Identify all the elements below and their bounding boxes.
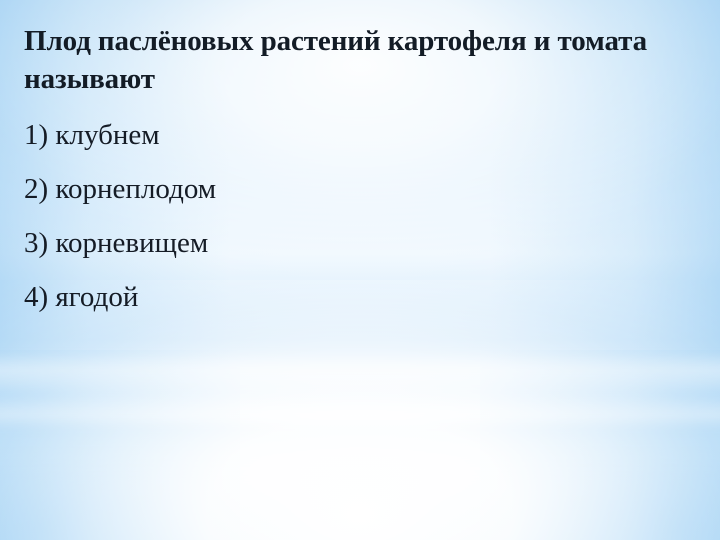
- answer-option-4-label: ягодой: [55, 281, 138, 313]
- answer-option-1-marker: 1): [24, 119, 48, 151]
- answer-option-3-marker: 3): [24, 227, 48, 259]
- answer-option-2-label: корнеплодом: [55, 173, 216, 205]
- presentation-slide: Плод паслёновых растений картофеля и том…: [0, 0, 720, 540]
- answer-option-1-label: клубнем: [55, 119, 159, 151]
- answer-option-1[interactable]: 1) клубнем: [24, 108, 702, 162]
- answer-option-3-label: корневищем: [55, 227, 208, 259]
- answer-option-3[interactable]: 3) корневищем: [24, 216, 702, 270]
- answer-option-4[interactable]: 4) ягодой: [24, 270, 702, 324]
- question-text: Плод паслёновых растений картофеля и том…: [24, 22, 696, 98]
- answer-options-list: 1) клубнем 2) корнеплодом 3) корневищем …: [24, 108, 702, 324]
- slide-content: Плод паслёновых растений картофеля и том…: [0, 0, 720, 324]
- answer-option-2-marker: 2): [24, 173, 48, 205]
- answer-option-2[interactable]: 2) корнеплодом: [24, 162, 702, 216]
- answer-option-4-marker: 4): [24, 281, 48, 313]
